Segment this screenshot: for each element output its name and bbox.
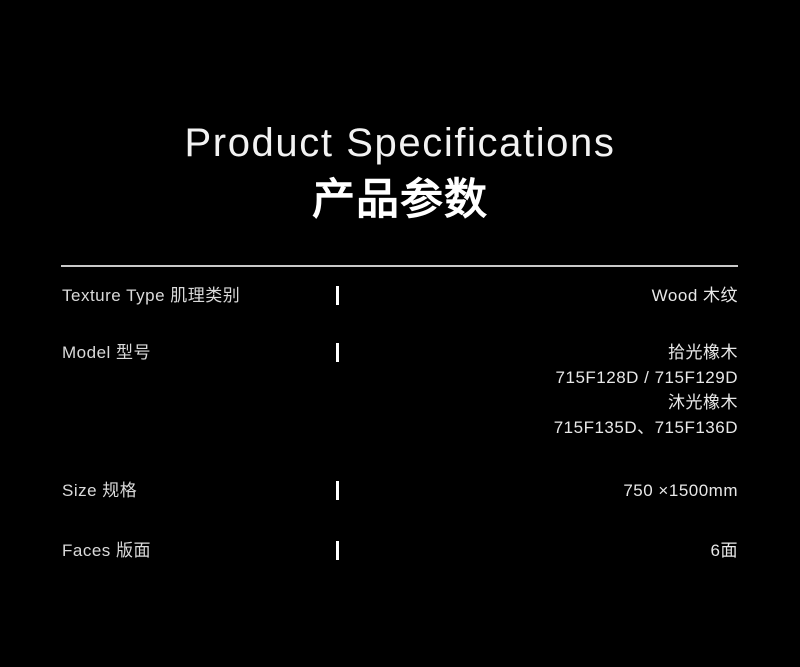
row-separator-bar [336, 286, 339, 305]
table-row: Texture Type 肌理类别 Wood 木纹 [0, 283, 800, 340]
spec-value-line: 沐光橡木 [554, 390, 738, 415]
spec-value-line: 750 ×1500mm [623, 478, 738, 503]
spec-label-texture-type: Texture Type 肌理类别 [62, 283, 240, 308]
spec-value-model: 拾光橡木 715F128D / 715F129D 沐光橡木 715F135D、7… [554, 340, 738, 440]
table-row: Model 型号 拾光橡木 715F128D / 715F129D 沐光橡木 7… [0, 340, 800, 478]
table-row: Faces 版面 6面 [0, 538, 800, 578]
row-separator-bar [336, 343, 339, 362]
spec-value-line: 6面 [711, 538, 738, 563]
spec-value-line: 715F135D、715F136D [554, 415, 738, 440]
product-specifications-page: Product Specifications 产品参数 Texture Type… [0, 0, 800, 667]
spec-label-faces: Faces 版面 [62, 538, 151, 563]
page-title-english: Product Specifications [0, 119, 800, 167]
row-separator-bar [336, 541, 339, 560]
specifications-table: Texture Type 肌理类别 Wood 木纹 Model 型号 拾光橡木 … [0, 283, 800, 578]
spec-value-faces: 6面 [711, 538, 738, 563]
spec-label-size: Size 规格 [62, 478, 137, 503]
spec-value-size: 750 ×1500mm [623, 478, 738, 503]
header-divider [61, 265, 738, 267]
spec-value-line: 715F128D / 715F129D [554, 365, 738, 390]
page-title-chinese: 产品参数 [0, 175, 800, 225]
spec-value-line: Wood 木纹 [652, 283, 738, 308]
table-row: Size 规格 750 ×1500mm [0, 478, 800, 538]
spec-value-texture-type: Wood 木纹 [652, 283, 738, 308]
spec-value-line: 拾光橡木 [554, 340, 738, 365]
row-separator-bar [336, 481, 339, 500]
spec-label-model: Model 型号 [62, 340, 151, 365]
